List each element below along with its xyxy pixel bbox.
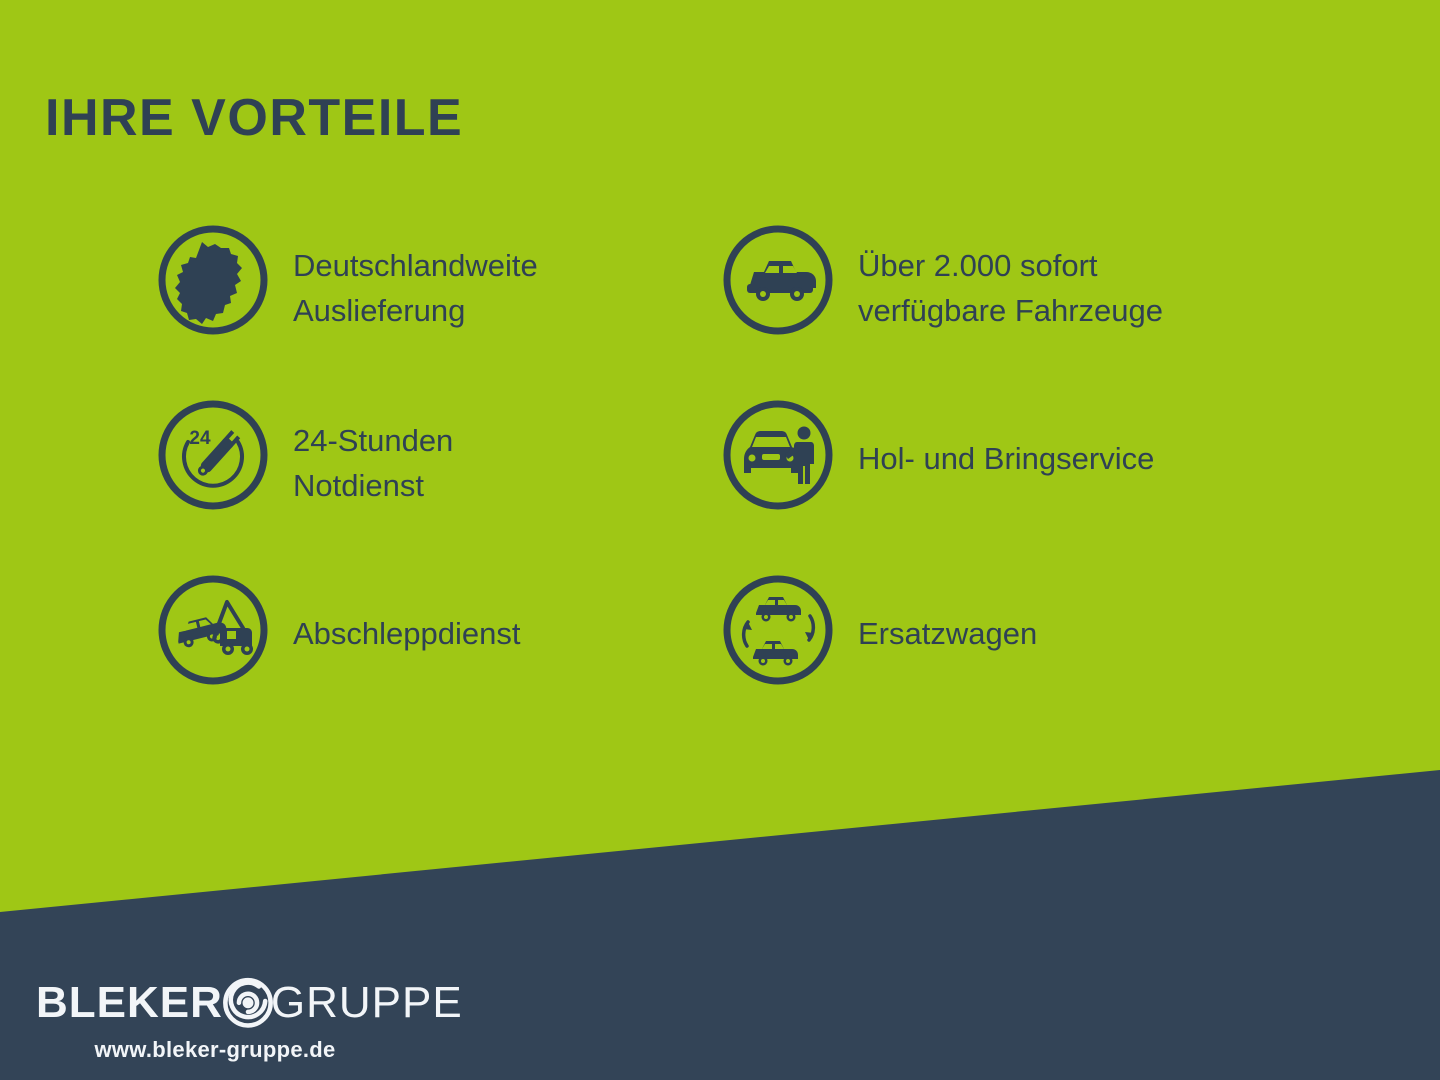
hours-badge-text: 24 bbox=[189, 428, 211, 449]
benefit-label: Über 2.000 sofort verfügbare Fahrzeuge bbox=[858, 222, 1163, 334]
logo-wordmark-secondary: GRUPPE bbox=[271, 981, 463, 1025]
benefit-item-ersatzwagen: Ersatzwagen bbox=[720, 572, 1285, 712]
24-hour-wrench-icon: 24 bbox=[155, 397, 271, 513]
logo-wordmark-primary: BLEKER bbox=[36, 981, 223, 1025]
benefit-label: 24-Stunden Notdienst bbox=[293, 397, 453, 509]
benefit-item-hol-und-bringservice: Hol- und Bringservice bbox=[720, 397, 1285, 572]
benefit-item-deutschlandweite-auslieferung: Deutschlandweite Auslieferung bbox=[155, 222, 720, 397]
benefit-item-24-stunden-notdienst: 24 24-Stunden Notdienst bbox=[155, 397, 720, 572]
benefit-item-verfuegbare-fahrzeuge: Über 2.000 sofort verfügbare Fahrzeuge bbox=[720, 222, 1285, 397]
spiral-circle-logo-icon bbox=[219, 972, 277, 1035]
benefit-item-abschleppdienst: Abschleppdienst bbox=[155, 572, 720, 712]
car-with-driver-icon bbox=[720, 397, 836, 513]
website-url[interactable]: www.bleker-gruppe.de bbox=[36, 1037, 394, 1063]
logo-row: BLEKER GRUPPE bbox=[36, 975, 416, 1031]
two-cars-swap-icon bbox=[720, 572, 836, 688]
benefit-label: Deutschlandweite Auslieferung bbox=[293, 222, 538, 334]
benefit-label: Hol- und Bringservice bbox=[858, 397, 1154, 482]
benefits-grid: Deutschlandweite Auslieferung bbox=[155, 222, 1355, 712]
tow-truck-icon bbox=[155, 572, 271, 688]
footer-logo[interactable]: BLEKER GRUPPE www.bleker-gruppe.de bbox=[36, 975, 416, 1063]
slide-canvas: IHRE VORTEILE Deutschlandweite Ausliefer… bbox=[0, 0, 1440, 1080]
page-title: IHRE VORTEILE bbox=[45, 92, 463, 144]
car-side-icon bbox=[720, 222, 836, 338]
germany-map-icon bbox=[155, 222, 271, 338]
benefit-label: Abschleppdienst bbox=[293, 572, 521, 657]
benefit-label: Ersatzwagen bbox=[858, 572, 1037, 657]
